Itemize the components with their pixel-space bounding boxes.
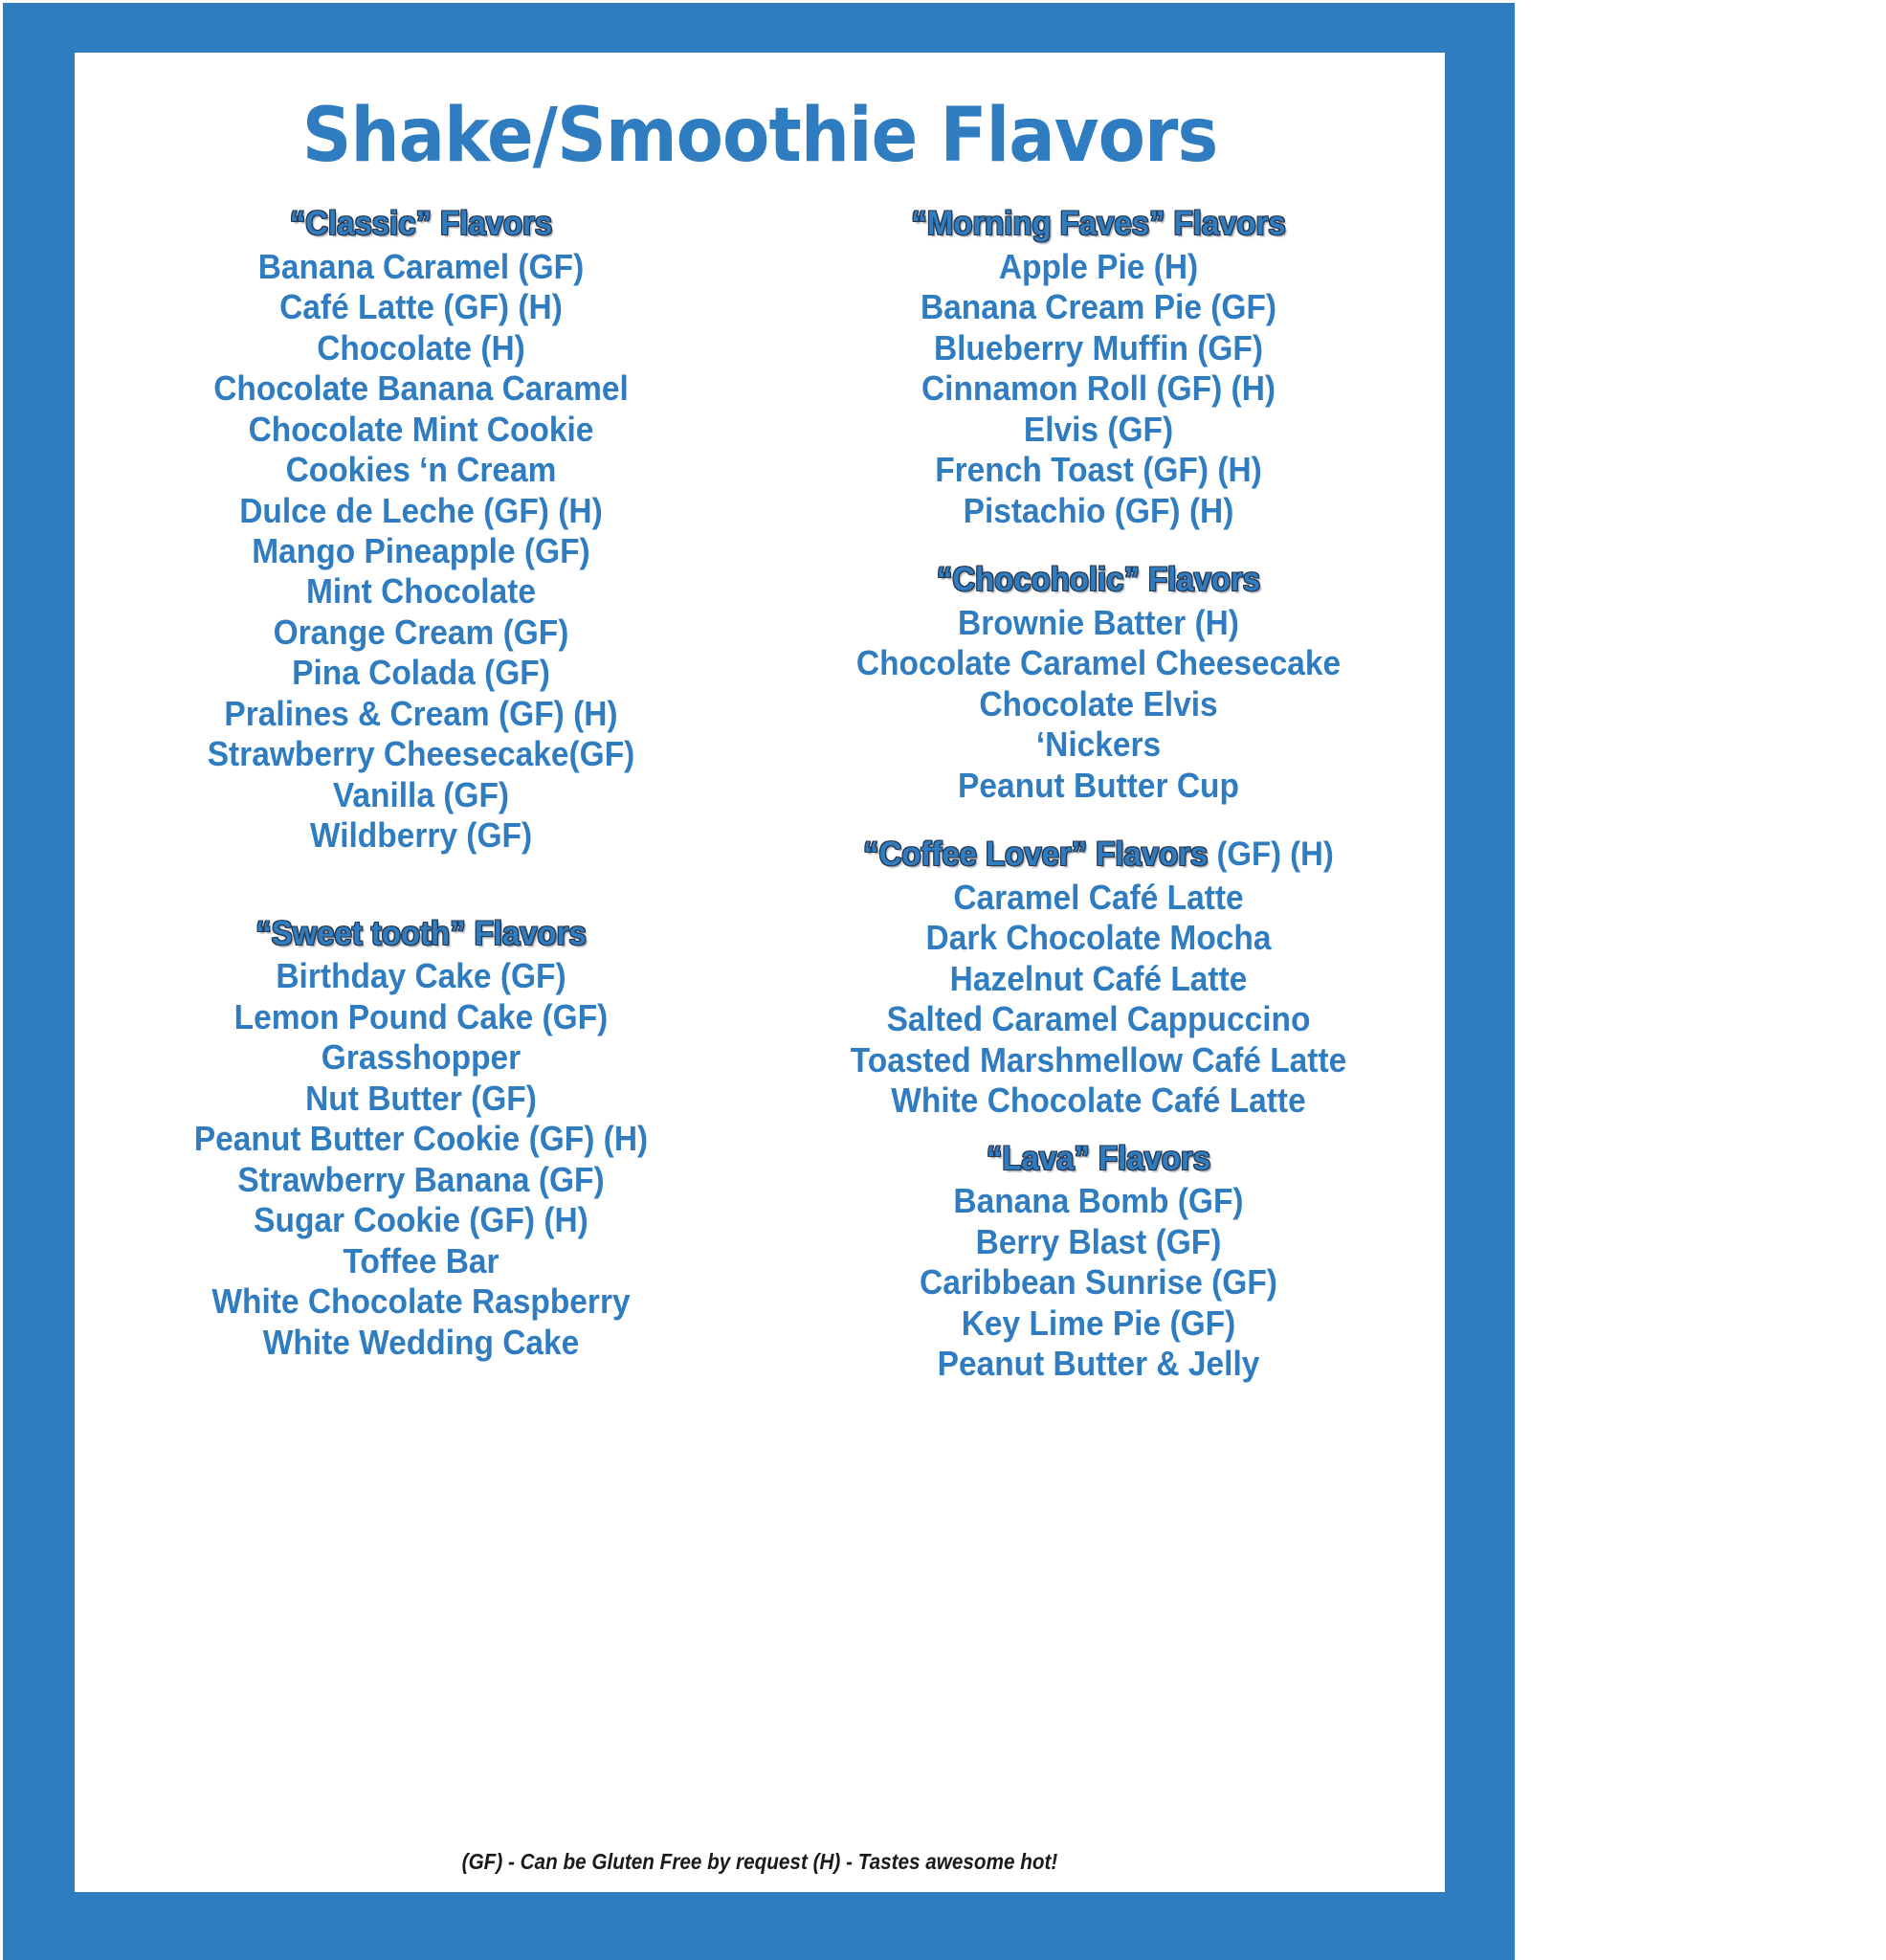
list-item: Mango Pineapple (GF) xyxy=(111,531,730,571)
right-column: “Morning Faves” FlavorsApple Pie (H)Bana… xyxy=(760,204,1437,1385)
section-header-label: “Coffee Lover” Flavors xyxy=(863,835,1208,873)
list-item: Cinnamon Roll (GF) (H) xyxy=(788,368,1408,409)
list-item: Sugar Cookie (GF) (H) xyxy=(111,1200,730,1240)
list-item: Pralines & Cream (GF) (H) xyxy=(111,694,730,734)
flavor-list: Banana Bomb (GF)Berry Blast (GF)Caribbea… xyxy=(765,1181,1431,1384)
section-header-classic-flavors: “Classic” Flavors xyxy=(108,204,734,245)
menu-sheet: Shake/Smoothie Flavors “Classic” Flavors… xyxy=(75,53,1445,1892)
list-item: Chocolate Elvis xyxy=(788,684,1408,724)
flavor-section-morning-faves-flavors: “Morning Faves” FlavorsApple Pie (H)Bana… xyxy=(765,204,1431,531)
list-item: Blueberry Muffin (GF) xyxy=(788,328,1408,368)
list-item: Chocolate (H) xyxy=(111,328,730,368)
list-item: Peanut Butter & Jelly xyxy=(788,1344,1408,1384)
list-item: Pina Colada (GF) xyxy=(111,653,730,693)
menu-poster: Shake/Smoothie Flavors “Classic” Flavors… xyxy=(3,3,1515,1960)
flavor-list: Birthday Cake (GF)Lemon Pound Cake (GF)G… xyxy=(88,956,754,1363)
section-spacer xyxy=(88,857,754,914)
flavor-section-classic-flavors: “Classic” FlavorsBanana Caramel (GF)Café… xyxy=(88,204,754,857)
section-header-morning-faves-flavors: “Morning Faves” Flavors xyxy=(786,204,1411,245)
list-item: Banana Cream Pie (GF) xyxy=(788,287,1408,327)
list-item: French Toast (GF) (H) xyxy=(788,450,1408,490)
list-item: Peanut Butter Cup xyxy=(788,766,1408,806)
list-item: Banana Caramel (GF) xyxy=(111,247,730,287)
list-item: Birthday Cake (GF) xyxy=(111,956,730,996)
section-header-sweet-tooth-flavors: “Sweet tooth” Flavors xyxy=(108,914,734,955)
list-item: Dulce de Leche (GF) (H) xyxy=(111,491,730,531)
list-item: Apple Pie (H) xyxy=(788,247,1408,287)
flavor-section-sweet-tooth-flavors: “Sweet tooth” FlavorsBirthday Cake (GF)L… xyxy=(88,914,754,1363)
list-item: Berry Blast (GF) xyxy=(788,1222,1408,1262)
list-item: Café Latte (GF) (H) xyxy=(111,287,730,327)
list-item: Grasshopper xyxy=(111,1037,730,1078)
list-item: Nut Butter (GF) xyxy=(111,1079,730,1119)
list-item: Hazelnut Café Latte xyxy=(788,959,1408,999)
section-spacer xyxy=(765,806,1431,835)
flavor-list: Apple Pie (H)Banana Cream Pie (GF)Bluebe… xyxy=(765,247,1431,531)
legend-footnote: (GF) - Can be Gluten Free by request (H)… xyxy=(144,1849,1377,1875)
section-header-label: “Sweet tooth” Flavors xyxy=(255,915,587,952)
list-item: Orange Cream (GF) xyxy=(111,612,730,653)
list-item: Cookies ‘n Cream xyxy=(111,450,730,490)
list-item: Key Lime Pie (GF) xyxy=(788,1303,1408,1344)
list-item: Pistachio (GF) (H) xyxy=(788,491,1408,531)
section-header-suffix: (GF) (H) xyxy=(1208,835,1334,873)
flavor-list: Caramel Café LatteDark Chocolate MochaHa… xyxy=(765,878,1431,1122)
section-header-label: “Lava” Flavors xyxy=(987,1140,1210,1177)
list-item: Elvis (GF) xyxy=(788,410,1408,450)
flavor-section-chocoholic-flavors: “Chocoholic” FlavorsBrownie Batter (H)Ch… xyxy=(765,560,1431,806)
list-item: Caramel Café Latte xyxy=(788,878,1408,918)
flavor-section-coffee-lover-flavors: “Coffee Lover” Flavors (GF) (H)Caramel C… xyxy=(765,835,1431,1122)
list-item: Chocolate Mint Cookie xyxy=(111,410,730,450)
list-item: Wildberry (GF) xyxy=(111,815,730,856)
list-item: Strawberry Banana (GF) xyxy=(111,1160,730,1200)
list-item: ‘Nickers xyxy=(788,724,1408,765)
list-item: White Wedding Cake xyxy=(111,1323,730,1363)
section-spacer xyxy=(765,1122,1431,1139)
section-header-coffee-lover-flavors: “Coffee Lover” Flavors (GF) (H) xyxy=(786,835,1411,876)
flavor-columns: “Classic” FlavorsBanana Caramel (GF)Café… xyxy=(75,204,1445,1385)
list-item: Salted Caramel Cappuccino xyxy=(788,999,1408,1039)
flavor-list: Banana Caramel (GF)Café Latte (GF) (H)Ch… xyxy=(88,247,754,857)
list-item: Vanilla (GF) xyxy=(111,775,730,815)
list-item: Dark Chocolate Mocha xyxy=(788,918,1408,958)
section-header-label: “Morning Faves” Flavors xyxy=(911,205,1285,242)
section-header-lava-flavors: “Lava” Flavors xyxy=(786,1139,1411,1180)
flavor-section-lava-flavors: “Lava” FlavorsBanana Bomb (GF)Berry Blas… xyxy=(765,1139,1431,1385)
list-item: Mint Chocolate xyxy=(111,571,730,612)
section-header-chocoholic-flavors: “Chocoholic” Flavors xyxy=(786,560,1411,601)
section-header-label: “Classic” Flavors xyxy=(290,205,552,242)
list-item: Lemon Pound Cake (GF) xyxy=(111,997,730,1037)
list-item: Peanut Butter Cookie (GF) (H) xyxy=(111,1119,730,1159)
list-item: Strawberry Cheesecake(GF) xyxy=(111,734,730,774)
list-item: Banana Bomb (GF) xyxy=(788,1181,1408,1221)
list-item: Toffee Bar xyxy=(111,1241,730,1281)
list-item: Toasted Marshmellow Café Latte xyxy=(788,1040,1408,1080)
page-title: Shake/Smoothie Flavors xyxy=(129,99,1389,173)
list-item: Chocolate Caramel Cheesecake xyxy=(788,643,1408,683)
list-item: Brownie Batter (H) xyxy=(788,603,1408,643)
list-item: Chocolate Banana Caramel xyxy=(111,368,730,409)
list-item: Caribbean Sunrise (GF) xyxy=(788,1262,1408,1303)
flavor-list: Brownie Batter (H)Chocolate Caramel Chee… xyxy=(765,603,1431,806)
list-item: White Chocolate Café Latte xyxy=(788,1080,1408,1121)
section-spacer xyxy=(765,531,1431,560)
left-column: “Classic” FlavorsBanana Caramel (GF)Café… xyxy=(82,204,760,1385)
section-header-label: “Chocoholic” Flavors xyxy=(937,561,1260,598)
list-item: White Chocolate Raspberry xyxy=(111,1281,730,1322)
